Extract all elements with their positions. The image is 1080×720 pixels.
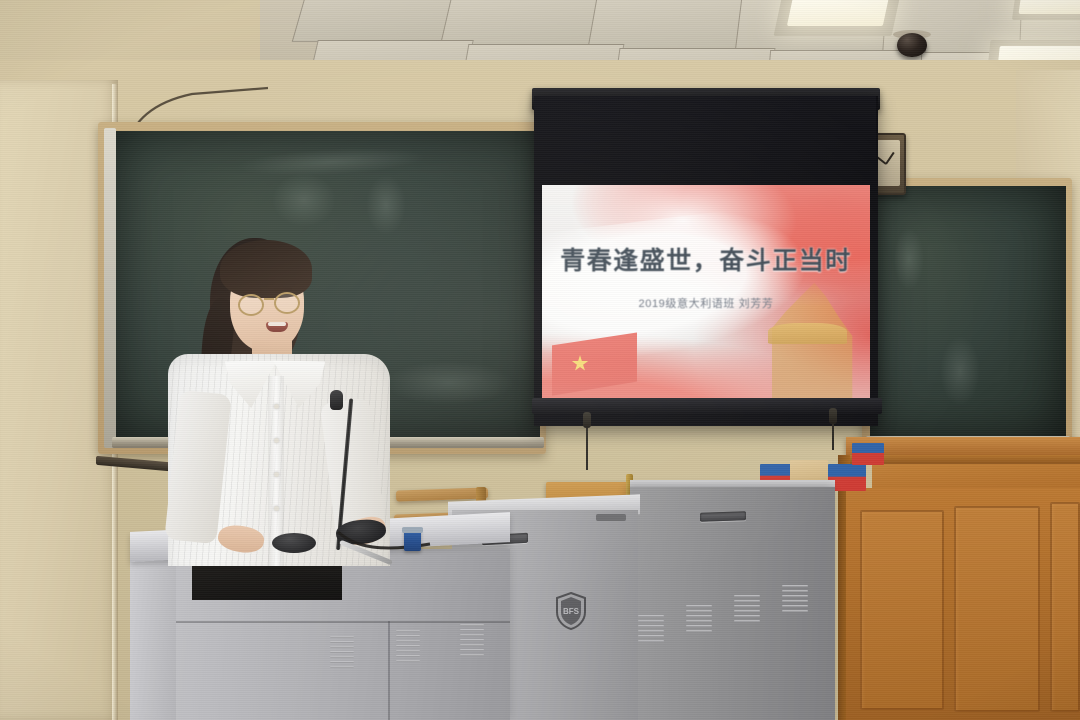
console-slot[interactable] (700, 511, 746, 522)
screen-cord-weight[interactable] (583, 412, 591, 428)
podium-left-face (130, 548, 176, 720)
wood-panel (1050, 502, 1080, 712)
svg-text:BFS: BFS (563, 607, 580, 616)
eyeglasses-left-lens (238, 294, 264, 316)
podium-seam (388, 621, 390, 720)
projected-slide: 青春逢盛世，奋斗正当时 2019级意大利语班 刘芳芳 (542, 185, 870, 400)
av-equipment-console (630, 487, 835, 720)
hair-front (220, 240, 312, 298)
chalk-smudge (272, 173, 336, 227)
gooseneck-microphone-head[interactable] (330, 390, 343, 410)
chalk-smudge (366, 175, 406, 235)
eyeglasses-bridge (264, 298, 274, 300)
eyeglasses-right-lens (274, 292, 300, 314)
podium-seam (170, 621, 510, 623)
projector-haze (542, 185, 870, 400)
projection-screen-masking (534, 96, 876, 191)
slide-subtitle: 2019级意大利语班 刘芳芳 (542, 295, 870, 311)
chalk-smudge (384, 361, 514, 405)
blouse-button (274, 506, 279, 511)
dome-security-camera (897, 33, 927, 57)
shield-icon: BFS (556, 592, 586, 630)
wood-panel (954, 506, 1040, 712)
ceiling-light-fixture (1018, 0, 1080, 14)
classroom-photo: 青春逢盛世，奋斗正当时 2019级意大利语班 刘芳芳 (0, 0, 1080, 720)
blouse-button (274, 404, 279, 409)
wood-panel-wainscot (846, 488, 1080, 720)
chalkboard-left-rail (104, 128, 116, 448)
wood-panel (860, 510, 944, 710)
chalkboard-right (870, 186, 1066, 440)
vga-adapter-cap (402, 527, 423, 533)
chalk-smudge (894, 228, 924, 290)
student-presenter (168, 236, 396, 566)
screen-cord-weight[interactable] (829, 408, 837, 424)
chalk-smudge (940, 336, 980, 406)
blouse-button (274, 438, 279, 443)
chalk-smudge (235, 144, 426, 180)
ceiling-light-fixture (787, 0, 889, 26)
teeth (268, 322, 286, 326)
desk-microphone-base[interactable] (272, 533, 316, 553)
blouse-button (274, 472, 279, 477)
console-label (596, 514, 626, 521)
podium-shield-emblem: BFS (556, 592, 586, 630)
ceiling-tile (292, 0, 459, 42)
chalk-box-blue-3 (852, 443, 884, 465)
slide-title: 青春逢盛世，奋斗正当时 (542, 241, 870, 277)
